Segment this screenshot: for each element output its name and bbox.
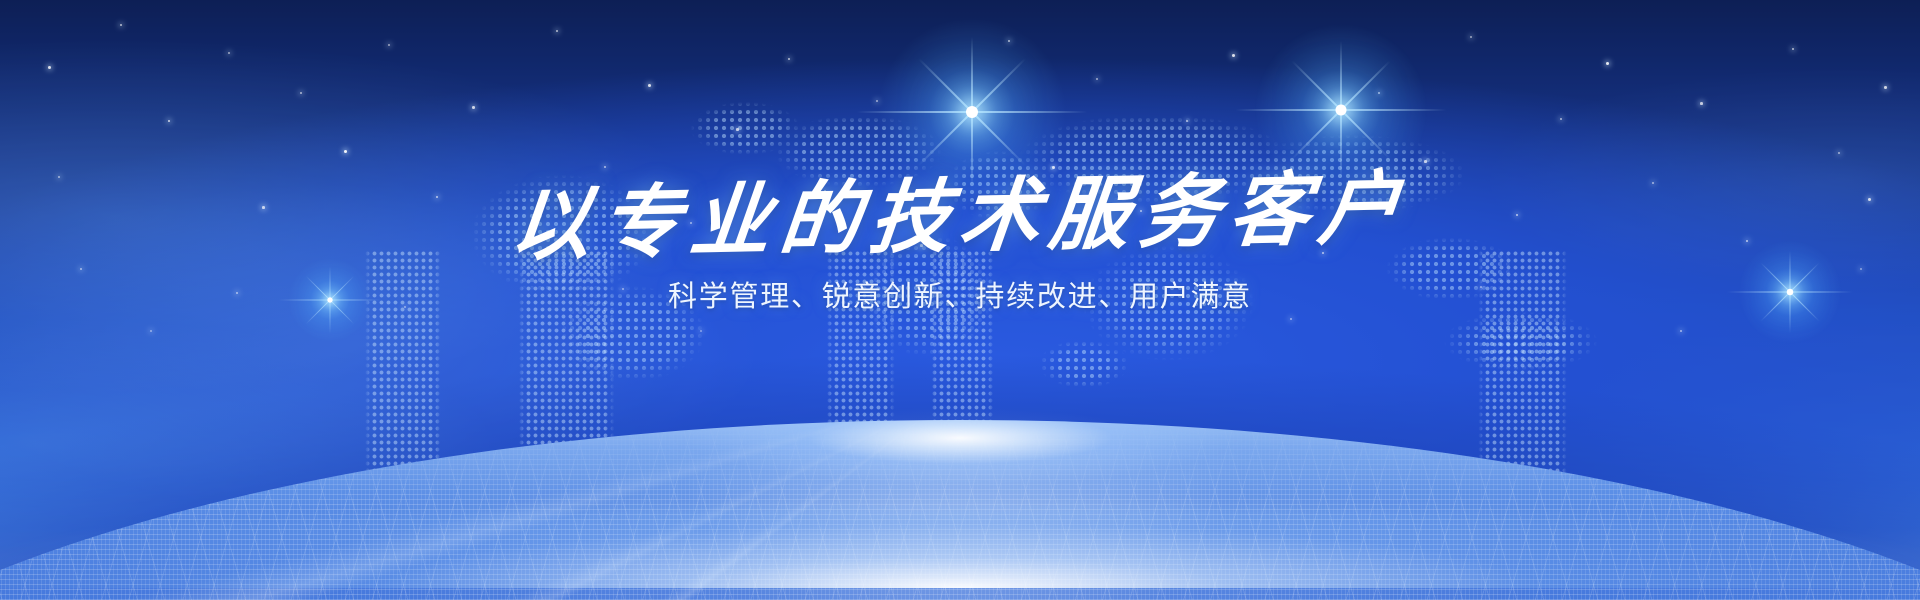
star: [1860, 268, 1862, 270]
star: [1652, 182, 1654, 184]
hero-banner: 以专业的技术服务客户 科学管理、锐意创新、持续改进、用户满意: [0, 0, 1920, 600]
star: [736, 128, 739, 131]
star: [1470, 36, 1472, 38]
star: [150, 330, 152, 332]
star: [58, 176, 60, 178]
star: [1096, 78, 1098, 80]
star: [1008, 40, 1010, 42]
star: [344, 150, 347, 153]
star: [1560, 118, 1562, 120]
star: [1516, 214, 1518, 216]
star: [262, 206, 265, 209]
star: [1606, 62, 1609, 65]
star: [1424, 160, 1427, 163]
banner-headline: 以专业的技术服务客户: [507, 167, 1413, 264]
star: [1884, 86, 1887, 89]
star: [1792, 48, 1794, 50]
star: [120, 24, 122, 26]
star: [472, 106, 475, 109]
star: [1746, 240, 1748, 242]
star: [1378, 92, 1380, 94]
star: [168, 120, 170, 122]
star: [648, 84, 651, 87]
star: [436, 196, 438, 198]
star: [1868, 198, 1871, 201]
star: [1290, 318, 1292, 320]
star: [1680, 330, 1682, 332]
earth-globe: [0, 420, 1920, 600]
star: [404, 306, 406, 308]
star: [80, 268, 82, 270]
star: [700, 330, 702, 332]
star: [388, 44, 390, 46]
star: [300, 92, 302, 94]
star: [1186, 120, 1188, 122]
star: [788, 58, 790, 60]
star: [1838, 152, 1840, 154]
star: [604, 166, 606, 168]
star: [622, 288, 624, 290]
banner-subline: 科学管理、锐意创新、持续改进、用户满意: [668, 280, 1252, 315]
star: [236, 292, 238, 294]
star: [228, 52, 230, 54]
star: [1480, 286, 1482, 288]
star: [48, 66, 51, 69]
star: [556, 30, 558, 32]
star: [1232, 54, 1235, 57]
city-texture: [0, 420, 1920, 600]
star: [876, 100, 878, 102]
star: [1700, 102, 1703, 105]
